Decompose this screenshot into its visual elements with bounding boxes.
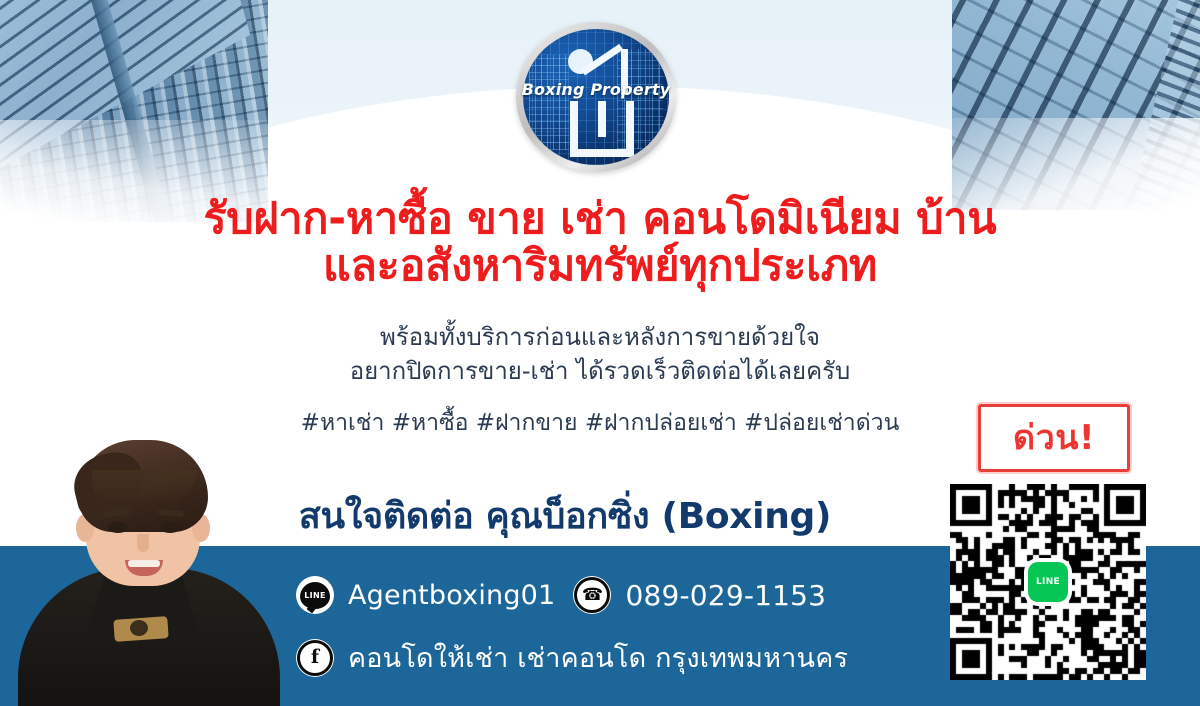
page-title: รับฝาก-หาซื้อ ขาย เช่า คอนโดมิเนียม บ้าน… <box>120 196 1080 290</box>
facebook-icon-label: f <box>297 640 333 676</box>
subtitle-text: พร้อมทั้งบริการก่อนและหลังการขายด้วยใจ อ… <box>150 320 1050 388</box>
phone-icon[interactable]: ☎ <box>573 576 611 614</box>
logo-base-bar <box>570 149 634 157</box>
logo-grid-left <box>529 55 569 150</box>
line-logo-overlay-icon: LINE <box>1028 562 1068 602</box>
line-id-value: Agentboxing01 <box>348 580 555 611</box>
agent-portrait <box>18 418 280 706</box>
urgent-stamp: ด่วน! <box>978 404 1130 472</box>
headline-line-2: และอสังหาริมทรัพย์ทุกประเภท <box>120 243 1080 290</box>
phone-number-value: 089-029-1153 <box>625 579 826 612</box>
contact-row-facebook: f คอนโดให้เช่า เช่าคอนโด กรุงเทพมหานคร <box>296 636 848 679</box>
subtitle-line-2: อยากปิดการขาย-เช่า ได้รวดเร็วติดต่อได้เล… <box>150 354 1050 388</box>
facebook-page-value: คอนโดให้เช่า เช่าคอนโด กรุงเทพมหานคร <box>348 636 848 679</box>
line-icon-label: LINE <box>304 591 325 600</box>
urgent-stamp-label: ด่วน! <box>1013 421 1095 455</box>
hashtag-list: #หาเช่า #หาซื้อ #ฝากขาย #ฝากปล่อยเช่า #ป… <box>150 405 1050 441</box>
line-icon[interactable]: LINE <box>296 576 334 614</box>
logo-roof-mark <box>583 47 645 83</box>
facebook-icon[interactable]: f <box>296 639 334 677</box>
contact-row-line: LINE Agentboxing01 ☎ 089-029-1153 <box>296 576 826 614</box>
logo-wordmark: Boxing Property <box>516 80 676 99</box>
headline-line-1: รับฝาก-หาซื้อ ขาย เช่า คอนโดมิเนียม บ้าน <box>120 196 1080 243</box>
boxing-property-logo: Boxing Property <box>516 22 684 172</box>
subtitle-line-1: พร้อมทั้งบริการก่อนและหลังการขายด้วยใจ <box>150 320 1050 354</box>
line-overlay-label: LINE <box>1036 577 1060 587</box>
property-advertisement-poster: Boxing Property รับฝาก-หาซื้อ ขาย เช่า ค… <box>0 0 1200 706</box>
line-qr-code[interactable]: LINE <box>950 484 1146 680</box>
